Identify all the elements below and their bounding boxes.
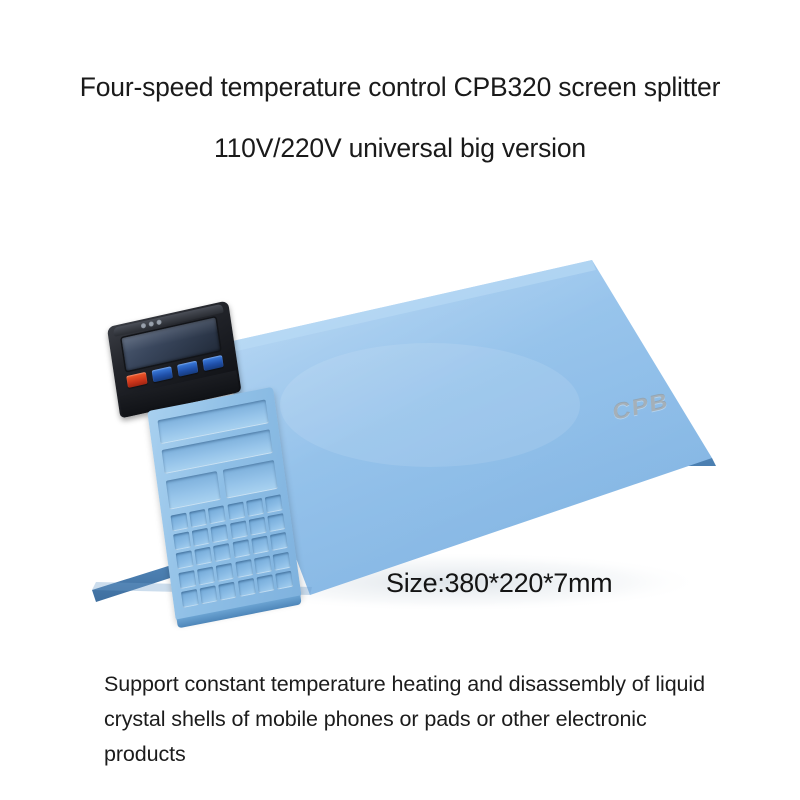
screw-holder-cell [265,494,283,513]
size-caption: Size:380*220*7mm [386,568,612,599]
screw-holder-cell [192,528,210,547]
tray-compartment [223,460,278,499]
product-image-page: Four-speed temperature control CPB320 sc… [0,0,800,800]
screw-holder-cell [216,562,234,581]
screw-holder-cell [197,566,215,585]
tray-compartment [166,471,221,510]
screw-holder-cell [173,532,191,551]
screw-holder-cell [171,513,189,532]
screw-holder-grid [171,494,294,607]
screw-holder-cell [227,502,245,521]
screw-holder-cell [189,509,207,528]
screw-holder-cell [249,517,267,536]
product-description: Support constant temperature heating and… [104,667,724,772]
screw-holder-cell [254,555,272,574]
indicator-led-icon [156,319,162,325]
screw-holder-cell [195,547,213,566]
screw-holder-cell [219,581,237,600]
screw-holder-cell [275,570,293,589]
screw-holder-cell [251,536,269,555]
screw-holder-cell [238,578,256,597]
screw-holder-cell [213,543,231,562]
product-title-line-1: Four-speed temperature control CPB320 sc… [0,72,800,103]
screw-holder-cell [273,551,291,570]
screw-holder-cell [267,513,285,532]
product-title-line-2: 110V/220V universal big version [0,133,800,164]
screw-holder-cell [176,551,194,570]
indicator-led-icon [141,322,147,328]
screw-holder-cell [270,532,288,551]
mat-light-pool [280,343,580,467]
screw-holder-cell [200,585,218,604]
screw-holder-cell [256,574,274,593]
screw-holder-cell [235,559,253,578]
screw-holder-cell [246,498,264,517]
screw-holder-cell [232,540,250,559]
screw-holder-cell [181,589,199,608]
screw-holder-cell [208,505,226,524]
screw-holder-cell [178,570,196,589]
screw-holder-cell [211,524,229,543]
indicator-led-icon [148,321,154,327]
screw-holder-cell [230,521,248,540]
